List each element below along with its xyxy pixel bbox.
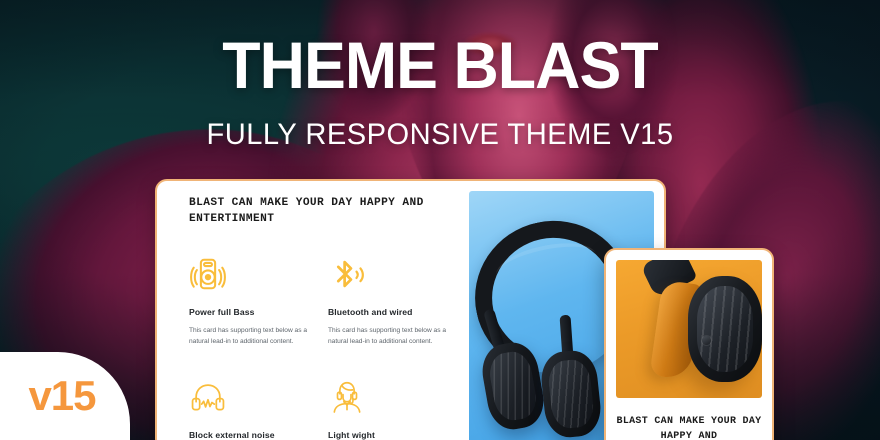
hero-subtitle: FULLY RESPONSIVE THEME V15 — [13, 118, 867, 152]
overlap-card-caption: BLAST CAN MAKE YOUR DAY HAPPY AND — [606, 414, 772, 440]
feature-list: Power full Bass This card has supporting… — [189, 253, 455, 440]
feature-title: Bluetooth and wired — [328, 307, 455, 317]
version-badge-label: v15 — [28, 372, 95, 420]
overlap-card-media — [616, 260, 762, 398]
hero-title: THEME BLAST — [22, 32, 858, 98]
feature-title: Power full Bass — [189, 307, 316, 317]
orange-headphone-earcup — [688, 276, 762, 382]
feature-card-content: BLAST CAN MAKE YOUR DAY HAPPY AND ENTERT… — [157, 181, 469, 440]
feature-item[interactable]: Light wight This card has supporting tex… — [328, 376, 455, 440]
speaker-icon — [189, 253, 316, 293]
feature-title: Block external noise — [189, 430, 316, 440]
orange-headphone-button — [702, 336, 711, 345]
feature-card: BLAST CAN MAKE YOUR DAY HAPPY AND ENTERT… — [155, 179, 666, 440]
noise-cancelling-headphones-icon — [189, 376, 316, 416]
overlap-product-card: BLAST CAN MAKE YOUR DAY HAPPY AND — [604, 248, 774, 440]
feature-item[interactable]: Bluetooth and wired This card has suppor… — [328, 253, 455, 348]
feature-description: This card has supporting text below as a… — [328, 326, 454, 348]
feature-description: This card has supporting text below as a… — [189, 326, 315, 348]
bluetooth-icon — [328, 253, 455, 293]
headphones-right-earcup — [539, 348, 604, 439]
headset-person-icon — [328, 376, 455, 416]
feature-title: Light wight — [328, 430, 455, 440]
feature-item[interactable]: Block external noise This card has suppo… — [189, 376, 316, 440]
hero-text-block: THEME BLAST FULLY RESPONSIVE THEME V15 — [0, 32, 880, 152]
feature-card-heading: BLAST CAN MAKE YOUR DAY HAPPY AND ENTERT… — [189, 195, 444, 227]
feature-item[interactable]: Power full Bass This card has supporting… — [189, 253, 316, 348]
